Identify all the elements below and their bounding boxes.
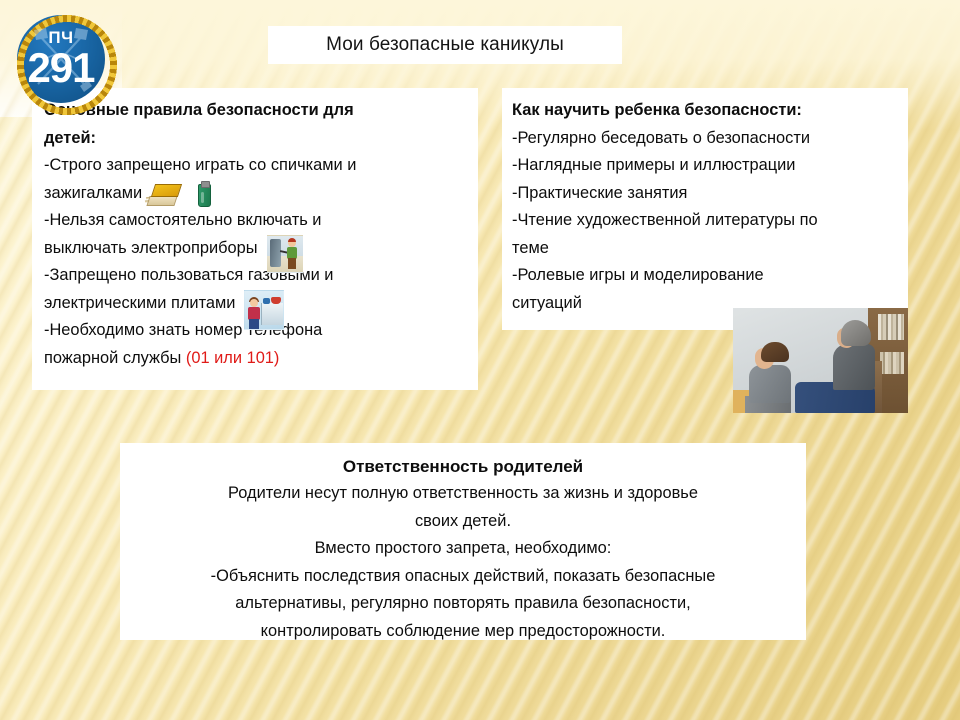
bottom-heading: Ответственность родителей [132, 453, 794, 480]
right-item-3: -Чтение художественной литературы по [512, 207, 900, 235]
how-to-teach-child-panel: Как научить ребенка безопасности: -Регул… [502, 88, 908, 330]
lighter-icon [198, 184, 211, 207]
basic-safety-rules-panel: Основные правила безопасности для детей:… [32, 88, 478, 390]
right-item-4: теме [512, 235, 900, 263]
matchbox-icon [148, 184, 182, 206]
logo-top-text: ПЧ [48, 29, 73, 46]
fire-station-logo-panel: ПЧ 291 [0, 0, 122, 117]
fire-station-logo-badge: ПЧ 291 [11, 9, 111, 109]
left-rule-2-line-1: -Нельзя самостоятельно включать и [44, 207, 470, 235]
left-rule-1-line-1: -Строго запрещено играть со спичками и [44, 152, 470, 180]
left-rule-2-line-2-text: выключать электроприборы [44, 239, 258, 257]
left-heading-line-2: детей: [44, 125, 470, 153]
electrical-appliance-icon [267, 235, 303, 273]
right-item-5: -Ролевые игры и моделирование [512, 262, 900, 290]
bottom-line-1: Родители несут полную ответственность за… [132, 480, 794, 508]
bottom-line-5: альтернативы, регулярно повторять правил… [132, 590, 794, 618]
right-heading: Как научить ребенка безопасности: [512, 97, 900, 125]
page-title: Мои безопасные каникулы [326, 34, 564, 56]
parental-responsibility-panel: Ответственность родителей Родители несут… [120, 443, 806, 640]
left-rule-4-line-2: пожарной службы (01 или 101) [44, 345, 470, 373]
right-item-2: -Практические занятия [512, 180, 900, 208]
left-rule-3-line-1: -Запрещено пользоваться газовыми и [44, 262, 470, 290]
logo-number: 291 [27, 47, 94, 89]
gas-stove-icon [244, 290, 284, 330]
left-rule-2-line-2: выключать электроприборы [44, 235, 470, 263]
left-rule-4-line-2-text: пожарной службы [44, 349, 181, 367]
fire-service-phone-number: (01 или 101) [186, 349, 279, 367]
slide-canvas: Мои безопасные каникулы Основные правила… [0, 0, 960, 720]
left-rule-1-line-2-text: зажигалками [44, 184, 142, 202]
slide-title-panel: Мои безопасные каникулы [268, 26, 622, 64]
bottom-line-4: -Объяснить последствия опасных действий,… [132, 563, 794, 591]
right-item-0: -Регулярно беседовать о безопасности [512, 125, 900, 153]
right-item-1: -Наглядные примеры и иллюстрации [512, 152, 900, 180]
bottom-line-3: Вместо простого запрета, необходимо: [132, 535, 794, 563]
bottom-line-2: своих детей. [132, 508, 794, 536]
adult-talking-to-child-photo [733, 308, 908, 413]
left-rule-3-line-2-text: электрическими плитами [44, 294, 235, 312]
left-rule-1-line-2: зажигалками [44, 180, 470, 208]
bottom-line-6: контролировать соблюдение мер предосторо… [132, 618, 794, 646]
left-rule-3-line-2: электрическими плитами [44, 290, 470, 318]
